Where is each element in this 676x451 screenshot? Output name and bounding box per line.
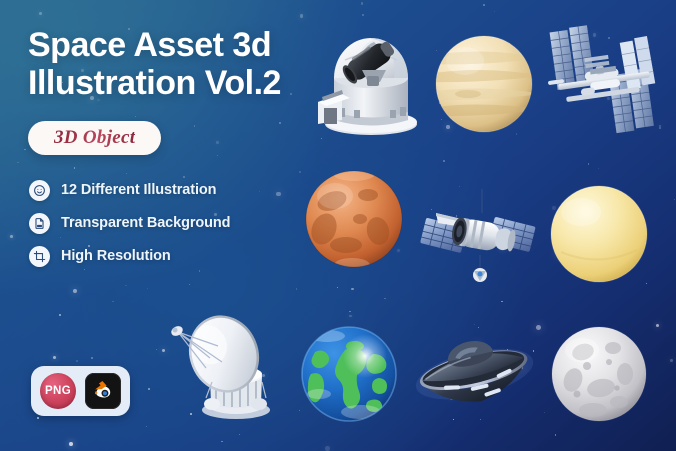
page-title: Space Asset 3d Illustration Vol.2 <box>28 26 348 103</box>
satellite <box>418 183 536 299</box>
badge-label: 3D Object <box>54 127 135 148</box>
smiley-icon <box>29 180 50 201</box>
earth-planet <box>297 322 401 426</box>
png-format-label: PNG <box>45 385 71 397</box>
png-format-icon: PNG <box>40 373 76 409</box>
observatory <box>312 20 430 140</box>
ufo <box>412 330 538 418</box>
mars-planet <box>302 167 406 271</box>
blender-format-icon <box>85 373 121 409</box>
title-line-1: Space Asset 3d <box>28 26 348 64</box>
poster-canvas: Space Asset 3d Illustration Vol.2 3D Obj… <box>0 0 676 451</box>
space-station <box>540 22 664 140</box>
feature-list: 12 Different Illustration Transparent Ba… <box>29 178 230 277</box>
list-item-label: Transparent Background <box>61 215 230 231</box>
crop-icon <box>29 246 50 267</box>
venus-planet <box>547 182 651 286</box>
list-item: High Resolution <box>29 244 230 268</box>
list-item-label: High Resolution <box>61 248 171 264</box>
blender-logo-glyph <box>91 379 115 403</box>
list-item: Transparent Background <box>29 211 230 235</box>
jupiter-planet <box>432 32 536 136</box>
title-line-2: Illustration Vol.2 <box>28 64 348 102</box>
png-file-icon <box>29 213 50 234</box>
list-item: 12 Different Illustration <box>29 178 230 202</box>
moon <box>547 322 651 426</box>
status-badge: 3D Object <box>28 121 161 155</box>
list-item-label: 12 Different Illustration <box>61 182 216 198</box>
satellite-dish <box>166 306 286 424</box>
format-panel: PNG <box>31 366 130 416</box>
